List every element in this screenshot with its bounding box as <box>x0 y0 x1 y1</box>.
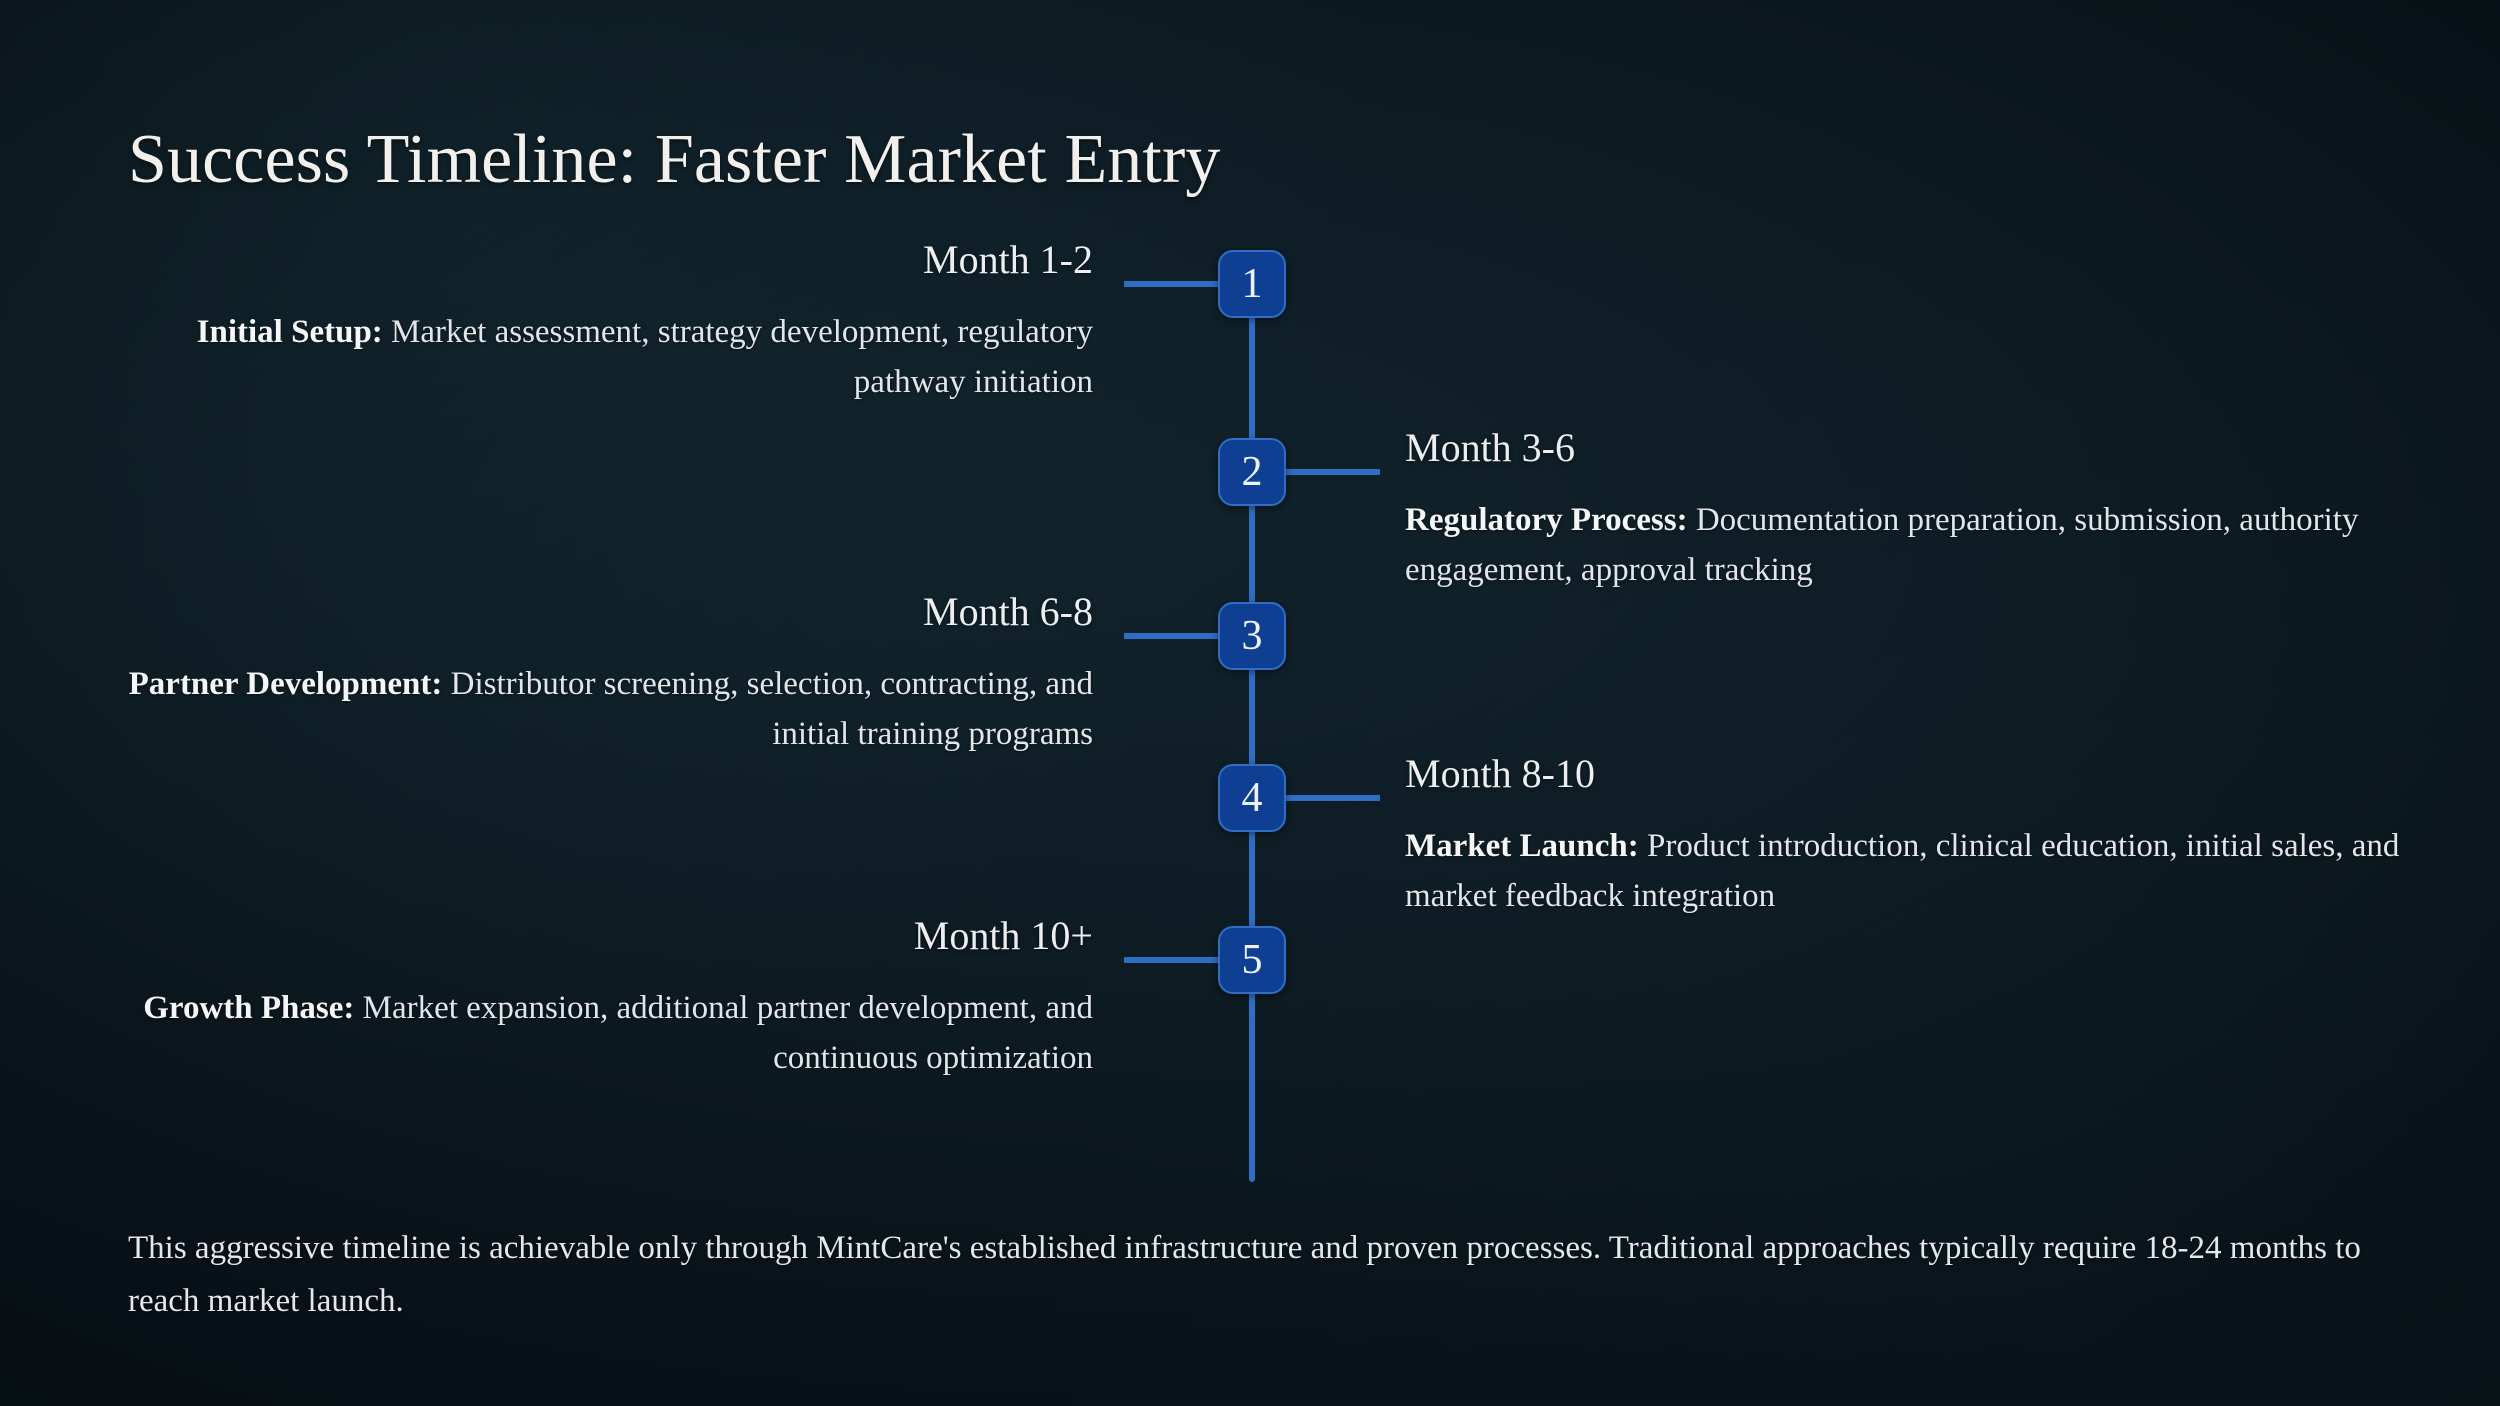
timeline-content-left: Month 10+ Growth Phase: Market expansion… <box>120 912 1093 1083</box>
timeline-spine <box>1249 262 1255 1182</box>
timeline: 1 Month 1-2 Initial Setup: Market assess… <box>0 0 2500 1406</box>
footer-note: This aggressive timeline is achievable o… <box>128 1222 2368 1329</box>
timeline-period: Month 10+ <box>120 912 1093 961</box>
timeline-description: Partner Development: Distributor screeni… <box>120 659 1093 759</box>
timeline-period: Month 1-2 <box>120 236 1093 285</box>
timeline-description: Growth Phase: Market expansion, addition… <box>120 983 1093 1083</box>
timeline-description: Market Launch: Product introduction, cli… <box>1405 821 2405 921</box>
timeline-marker-4[interactable]: 4 <box>1218 764 1286 832</box>
timeline-description-lead: Initial Setup: <box>197 314 383 350</box>
timeline-connector-left <box>1124 281 1220 287</box>
timeline-description: Regulatory Process: Documentation prepar… <box>1405 495 2405 595</box>
timeline-description-lead: Growth Phase: <box>143 990 354 1026</box>
timeline-period: Month 8-10 <box>1405 750 2405 799</box>
timeline-description-lead: Market Launch: <box>1405 828 1639 864</box>
timeline-description-lead: Partner Development: <box>129 666 443 702</box>
timeline-marker-2[interactable]: 2 <box>1218 438 1286 506</box>
timeline-content-right: Month 3-6 Regulatory Process: Documentat… <box>1405 424 2405 595</box>
timeline-description-lead: Regulatory Process: <box>1405 502 1688 538</box>
timeline-description-body: Market assessment, strategy development,… <box>383 314 1093 400</box>
slide-canvas: Success Timeline: Faster Market Entry 1 … <box>0 0 2500 1406</box>
timeline-period: Month 6-8 <box>120 588 1093 637</box>
timeline-connector-right <box>1284 795 1380 801</box>
timeline-marker-1[interactable]: 1 <box>1218 250 1286 318</box>
timeline-marker-3[interactable]: 3 <box>1218 602 1286 670</box>
timeline-description-body: Distributor screening, selection, contra… <box>442 666 1093 752</box>
timeline-marker-5[interactable]: 5 <box>1218 926 1286 994</box>
timeline-content-left: Month 6-8 Partner Development: Distribut… <box>120 588 1093 759</box>
timeline-description: Initial Setup: Market assessment, strate… <box>120 307 1093 407</box>
timeline-content-left: Month 1-2 Initial Setup: Market assessme… <box>120 236 1093 407</box>
timeline-connector-right <box>1284 469 1380 475</box>
timeline-description-body: Market expansion, additional partner dev… <box>354 990 1093 1076</box>
timeline-connector-left <box>1124 957 1220 963</box>
timeline-content-right: Month 8-10 Market Launch: Product introd… <box>1405 750 2405 921</box>
timeline-connector-left <box>1124 633 1220 639</box>
timeline-period: Month 3-6 <box>1405 424 2405 473</box>
